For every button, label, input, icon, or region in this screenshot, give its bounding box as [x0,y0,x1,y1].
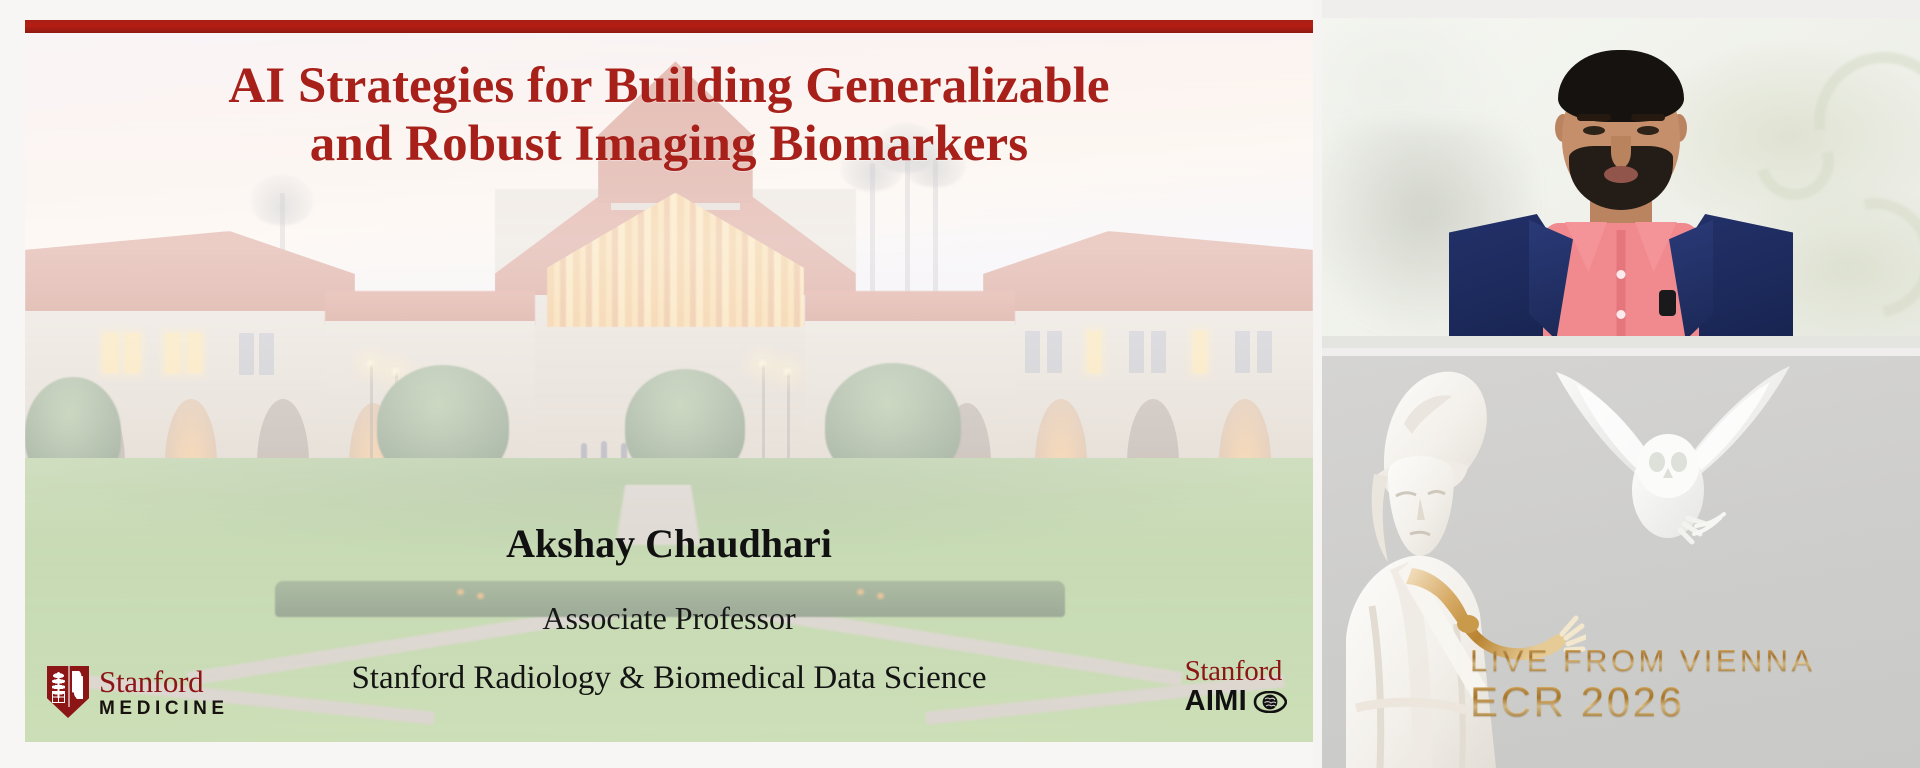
brain-eye-icon [1253,691,1287,713]
stanford-medicine-wordmark: Stanford MEDICINE [99,666,229,718]
nose [1611,136,1631,168]
eye-right [1637,126,1659,135]
aimi-wordmark-aimi: AIMI [1185,687,1247,716]
wordmark-stanford: Stanford [99,666,229,697]
wordmark-medicine: MEDICINE [99,699,229,718]
stanford-aimi-logo: Stanford AIMI [1185,657,1287,716]
slide-text-layer: AI Strategies for Building Generalizable… [25,20,1313,742]
shirt-button [1617,310,1626,319]
mouth [1604,166,1638,183]
shield-caduceus-icon [72,671,83,699]
aimi-wordmark-stanford: Stanford [1185,657,1287,686]
ecr-tagline: LIVE FROM VIENNA [1470,645,1816,677]
speaker-name: Akshay Chaudhari [25,520,1313,567]
ecr-wordmark: LIVE FROM VIENNA ECR 2026 [1470,645,1816,724]
shield-quad-icon [52,691,65,703]
eyebrow-right [1631,114,1665,121]
stanford-medicine-logo: Stanford MEDICINE [47,666,229,718]
aimi-wordmark-row: AIMI [1185,687,1287,716]
shirt-placket [1617,230,1626,348]
shield-divider [68,666,70,707]
slide-panel: AI Strategies for Building Generalizable… [0,0,1313,768]
broadcast-canvas: AI Strategies for Building Generalizable… [0,0,1920,768]
ecr-event-name: ECR 2026 [1470,680,1816,724]
slide-title-line-2: and Robust Imaging Biomarkers [25,116,1313,174]
eyebrow-left [1577,114,1611,121]
ecr-branding-panel: LIVE FROM VIENNA ECR 2026 [1322,356,1920,768]
presentation-slide[interactable]: AI Strategies for Building Generalizable… [25,20,1313,742]
lapel-microphone-icon [1659,290,1676,316]
slide-title-line-1: AI Strategies for Building Generalizable [25,58,1313,116]
video-bottom-strip [1322,336,1920,348]
shirt-button [1617,270,1626,279]
speaker-video-feed[interactable] [1322,18,1920,348]
right-column: LIVE FROM VIENNA ECR 2026 [1322,0,1920,768]
slide-accent-bar [25,20,1313,33]
page-title: AI Strategies for Building Generalizable… [25,58,1313,173]
speaker-role: Associate Professor [25,600,1313,637]
stanford-shield-icon [47,666,89,718]
eye-left [1583,126,1605,135]
